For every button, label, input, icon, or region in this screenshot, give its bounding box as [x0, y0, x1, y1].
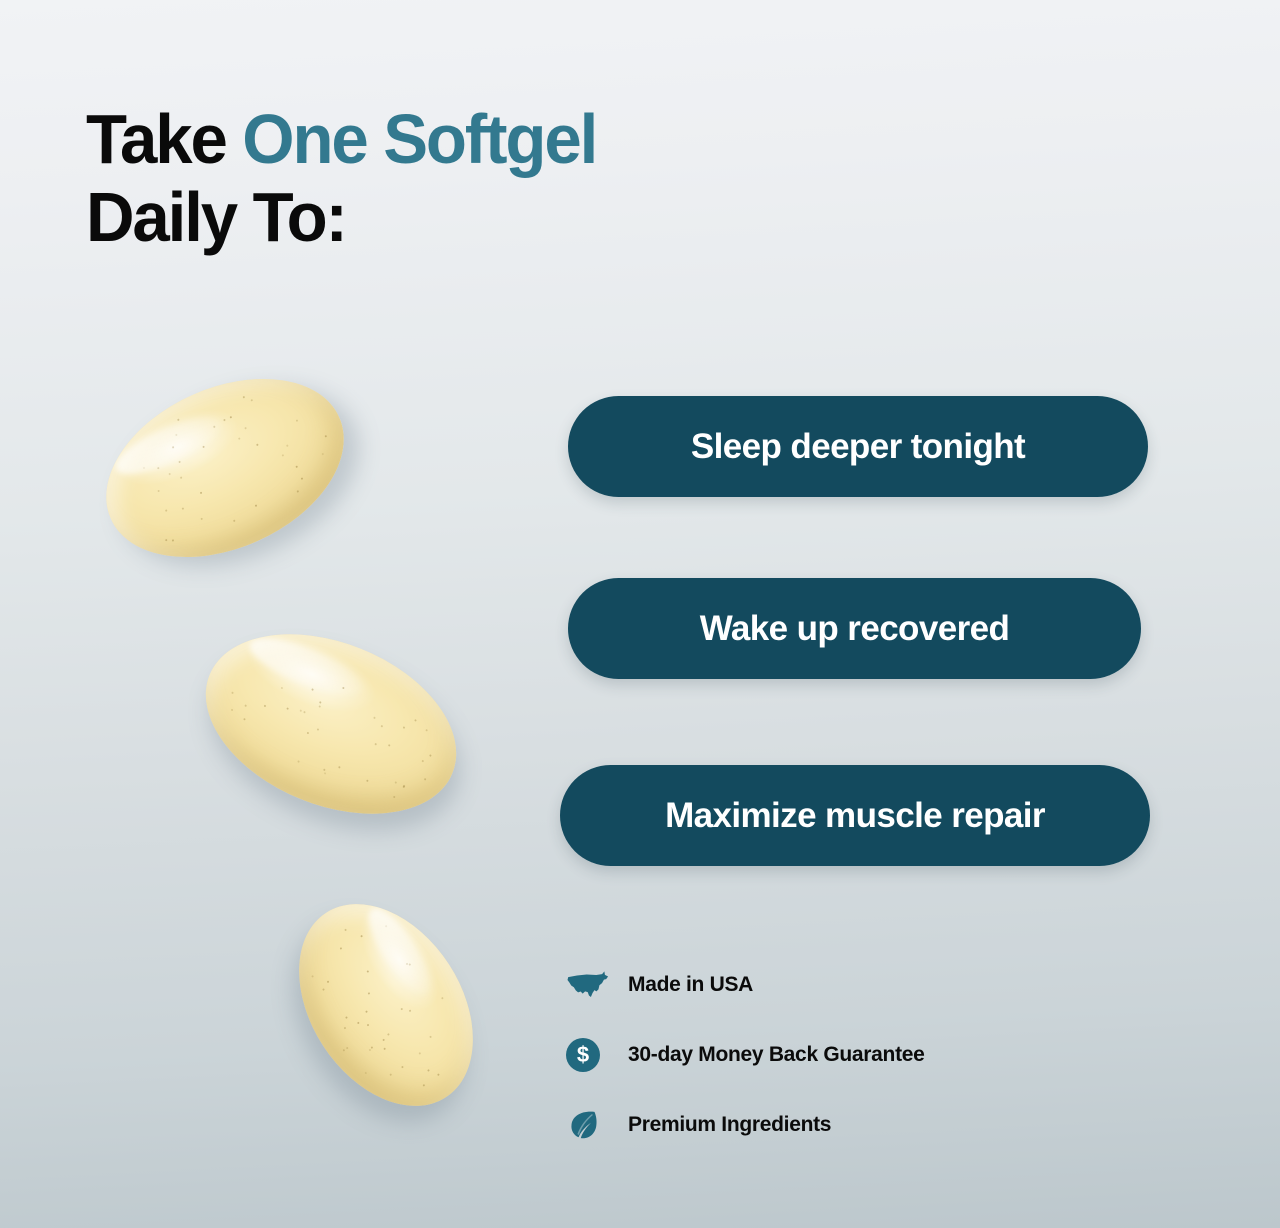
softgel-body: [263, 872, 509, 1138]
benefit-pill-label: Maximize muscle repair: [665, 796, 1045, 836]
trust-badge-money-back-guarantee: $ 30-day Money Back Guarantee: [566, 1020, 1126, 1090]
trust-badge-made-in-usa: Made in USA: [566, 950, 1126, 1020]
trust-badge-premium-ingredients: Premium Ingredients: [566, 1090, 1126, 1160]
dollar-circle-icon: $: [566, 1038, 628, 1072]
trust-badge-label: Premium Ingredients: [628, 1113, 831, 1137]
dollar-sign-glyph: $: [566, 1038, 600, 1072]
benefit-pill-maximize-muscle-repair: Maximize muscle repair: [560, 765, 1150, 866]
page-title: Take One Softgel Daily To:: [86, 100, 596, 257]
trust-badge-list: Made in USA $ 30-day Money Back Guarante…: [566, 950, 1126, 1160]
promo-graphic: Take One Softgel Daily To: Sleep deeper …: [0, 0, 1280, 1228]
heading-line-2: Daily To:: [86, 178, 596, 256]
heading-line-1: Take One Softgel: [86, 100, 596, 178]
softgel-capsule-3: [286, 900, 486, 1110]
leaf-icon: [566, 1108, 628, 1142]
trust-badge-label: 30-day Money Back Guarantee: [628, 1043, 925, 1067]
softgel-capsule-2: [179, 600, 483, 848]
usa-map-icon: [566, 970, 628, 1000]
trust-badge-label: Made in USA: [628, 973, 753, 997]
benefit-pill-sleep-deeper-tonight: Sleep deeper tonight: [568, 396, 1148, 497]
heading-plain-text: Take: [86, 100, 242, 178]
heading-accent-text: One Softgel: [242, 100, 596, 178]
benefit-pill-label: Sleep deeper tonight: [691, 427, 1025, 467]
benefit-pill-wake-up-recovered: Wake up recovered: [568, 578, 1141, 679]
softgel-body: [78, 344, 371, 592]
benefit-pill-label: Wake up recovered: [700, 609, 1009, 649]
softgel-body: [179, 600, 483, 848]
softgel-capsule-1: [78, 344, 371, 592]
